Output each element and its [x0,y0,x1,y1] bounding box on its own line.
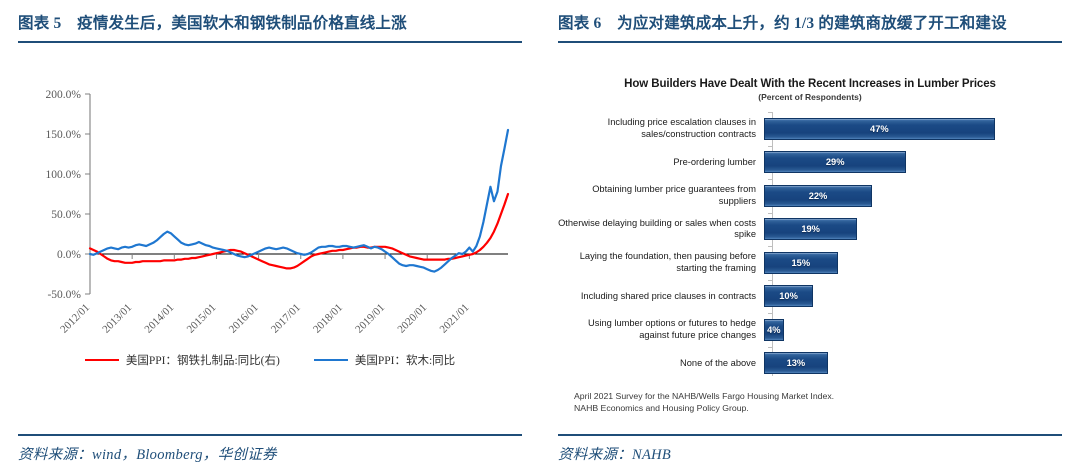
bar: 22% [764,185,872,207]
legend-item-lumber: 美国PPI：软木:同比 [314,352,455,368]
bar-track: 13% [764,347,1062,381]
bar-track: 29% [764,146,1062,180]
bar-chart-row: Using lumber options or futures to hedge… [558,313,1062,347]
y-tick-label: 100.0% [46,169,82,181]
figures-page: 图表 5 疫情发生后，美国软木和钢铁制品价格直线上涨 -50.0%0.0%50.… [0,0,1080,476]
figure-6-header-rule [558,41,1062,43]
bar-axis-tick [768,112,773,113]
bar-value-label: 4% [767,325,780,335]
bar-category-label: Otherwise delaying building or sales whe… [558,218,764,241]
line-chart-legend: 美国PPI：钢铁扎制品:同比(右) 美国PPI：软木:同比 [18,352,522,368]
figure-5-source: 资料来源：wind，Bloomberg，华创证券 [18,443,277,464]
x-tick-label: 2012/01 [58,302,92,336]
bar-category-label: None of the above [558,358,764,370]
figure-5-panel: 图表 5 疫情发生后，美国软木和钢铁制品价格直线上涨 -50.0%0.0%50.… [0,0,540,476]
x-tick-label: 2020/01 [395,302,429,336]
figure-5-title: 图表 5 疫情发生后，美国软木和钢铁制品价格直线上涨 [18,0,522,38]
bar: 47% [764,118,995,140]
bar-value-label: 22% [809,191,828,201]
legend-item-steel: 美国PPI：钢铁扎制品:同比(右) [85,352,280,368]
bar-chart-row: Including shared price clauses in contra… [558,280,1062,314]
bar-value-label: 47% [870,124,889,134]
bar: 10% [764,285,813,307]
bar-axis-tick [768,179,773,180]
y-axis-tick-labels: -50.0%0.0%50.0%100.0%150.0%200.0% [46,89,90,301]
legend-swatch-red [85,359,119,361]
bar-chart-plot: Including price escalation clauses in sa… [558,112,1062,380]
bar-category-label: Including shared price clauses in contra… [558,291,764,303]
bar-axis-tick [768,246,773,247]
bar-value-label: 29% [826,157,845,167]
x-tick-label: 2021/01 [437,302,471,336]
bar-track: 47% [764,112,1062,146]
bar-axis-tick [768,213,773,214]
x-tick-label: 2015/01 [185,302,219,336]
bar: 29% [764,151,906,173]
bar-track: 19% [764,213,1062,247]
figure-6-footer-rule [558,434,1062,436]
y-tick-label: 150.0% [46,129,82,141]
legend-label-steel: 美国PPI：钢铁扎制品:同比(右) [126,352,280,368]
bar-value-label: 15% [792,258,811,268]
bar-track: 10% [764,280,1062,314]
y-tick-label: 0.0% [57,249,81,261]
x-tick-label: 2014/01 [142,302,176,336]
legend-label-lumber: 美国PPI：软木:同比 [355,352,455,368]
bar-track: 22% [764,179,1062,213]
bar-chart-row: Including price escalation clauses in sa… [558,112,1062,146]
bar-axis-tick [768,347,773,348]
bar: 13% [764,352,828,374]
figure-5-footer-rule [18,434,522,436]
bar-chart-title: How Builders Have Dealt With the Recent … [558,78,1062,90]
x-tick-label: 2018/01 [311,302,345,336]
y-tick-label: -50.0% [47,289,81,301]
x-tick-label: 2016/01 [227,302,261,336]
bar-chart-row: Laying the foundation, then pausing befo… [558,246,1062,280]
x-tick-label: 2017/01 [269,302,303,336]
bar-chart-row: Pre-ordering lumber29% [558,146,1062,180]
bar: 19% [764,218,857,240]
bar-axis-tick [768,313,773,314]
x-tick-label: 2019/01 [353,302,387,336]
bar-value-label: 10% [779,291,798,301]
bar-category-label: Obtaining lumber price guarantees from s… [558,184,764,207]
bar-chart-footnote: April 2021 Survey for the NAHB/Wells Far… [558,390,1062,414]
x-tick-label: 2013/01 [100,302,134,336]
bar-axis-tick [768,280,773,281]
y-tick-label: 200.0% [46,89,82,101]
figure-6-title: 图表 6 为应对建筑成本上升，约 1/3 的建筑商放缓了开工和建设 [558,0,1062,38]
bar-category-label: Using lumber options or futures to hedge… [558,318,764,341]
bar-chart-row: Obtaining lumber price guarantees from s… [558,179,1062,213]
bar-track: 15% [764,246,1062,280]
bar-category-label: Pre-ordering lumber [558,157,764,169]
bar-value-label: 19% [801,224,820,234]
figure-5-header-rule [18,41,522,43]
y-tick-label: 50.0% [51,209,81,221]
bar: 4% [764,319,784,341]
legend-swatch-blue [314,359,348,361]
bar-track: 4% [764,313,1062,347]
lumber-bar-chart: How Builders Have Dealt With the Recent … [558,74,1062,426]
figure-6-source: 资料来源：NAHB [558,443,671,464]
bar-chart-row: None of the above13% [558,347,1062,381]
series-line-steel [90,194,508,268]
bar-axis-tick [768,146,773,147]
x-axis-tick-labels: 2012/012013/012014/012015/012016/012017/… [58,302,471,336]
bar: 15% [764,252,838,274]
figure-6-panel: 图表 6 为应对建筑成本上升，约 1/3 的建筑商放缓了开工和建设 How Bu… [540,0,1080,476]
bar-chart-subtitle: (Percent of Respondents) [558,92,1062,102]
bar-category-label: Including price escalation clauses in sa… [558,117,764,140]
bar-category-label: Laying the foundation, then pausing befo… [558,251,764,274]
bar-chart-row: Otherwise delaying building or sales whe… [558,213,1062,247]
bar-value-label: 13% [787,358,806,368]
series-line-lumber [90,130,508,272]
